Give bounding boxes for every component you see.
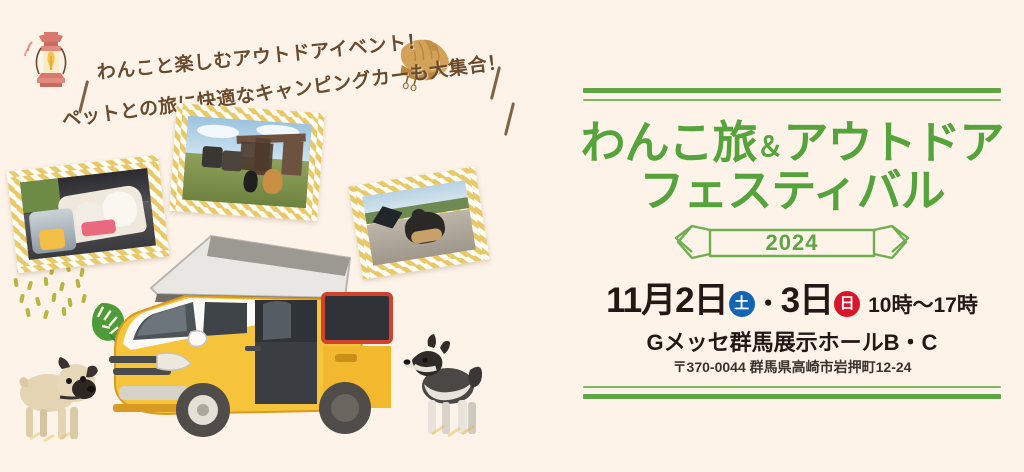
catchphrase: わんこと楽しむアウトドアイベント！ ペットとの旅に快適なキャンピングカーも大集合… bbox=[60, 28, 460, 118]
event-title-ampersand: ＆ bbox=[757, 132, 784, 162]
camper-van-illustration bbox=[95, 228, 410, 443]
venue-address: 〒370-0044 群馬県高崎市岩押町12-24 bbox=[560, 357, 1024, 377]
divider-bottom-thick bbox=[583, 394, 1001, 399]
divider-top-thin bbox=[583, 99, 1001, 101]
event-info-panel: わんこ旅＆アウトドア フェスティバル 2024 11月2日土・3日日10時〜17… bbox=[560, 0, 1024, 472]
divider-bottom bbox=[583, 386, 1001, 399]
event-date-day-1-weekday: 土 bbox=[729, 291, 755, 317]
venue-name: Gメッセ群馬展示ホールB・C bbox=[560, 325, 1024, 357]
event-date-month: 11月 bbox=[606, 281, 675, 320]
event-title: わんこ旅＆アウトドア フェスティバル bbox=[560, 120, 1024, 214]
event-date-day-1: 2日 bbox=[675, 281, 727, 320]
artwork-area: わんこと楽しむアウトドアイベント！ ペットとの旅に快適なキャンピングカーも大集合… bbox=[0, 0, 560, 472]
event-year: 2024 bbox=[560, 224, 1024, 264]
event-date: 11月2日土・3日日10時〜17時 bbox=[560, 272, 1024, 323]
event-hours: 10時〜17時 bbox=[868, 294, 978, 317]
photo-dogs-under-awning bbox=[169, 103, 324, 221]
event-title-line-1: わんこ旅＆アウトドア bbox=[560, 120, 1024, 166]
event-title-part-2: アウトドア bbox=[784, 117, 1004, 168]
event-title-part-1: わんこ旅 bbox=[580, 117, 756, 168]
event-banner: わんこと楽しむアウトドアイベント！ ペットとの旅に快適なキャンピングカーも大集合… bbox=[0, 0, 1024, 472]
event-date-day-2: 3日 bbox=[781, 281, 833, 320]
event-title-line-2: フェスティバル bbox=[560, 168, 1024, 214]
divider-top bbox=[583, 88, 1001, 101]
event-date-day-2-weekday: 日 bbox=[834, 291, 860, 317]
year-ribbon: 2024 bbox=[560, 224, 1024, 264]
event-date-separator: ・ bbox=[756, 290, 781, 318]
catch-tick-right-lower bbox=[504, 102, 515, 136]
pug-photo bbox=[6, 345, 102, 447]
husky-photo bbox=[398, 332, 488, 444]
